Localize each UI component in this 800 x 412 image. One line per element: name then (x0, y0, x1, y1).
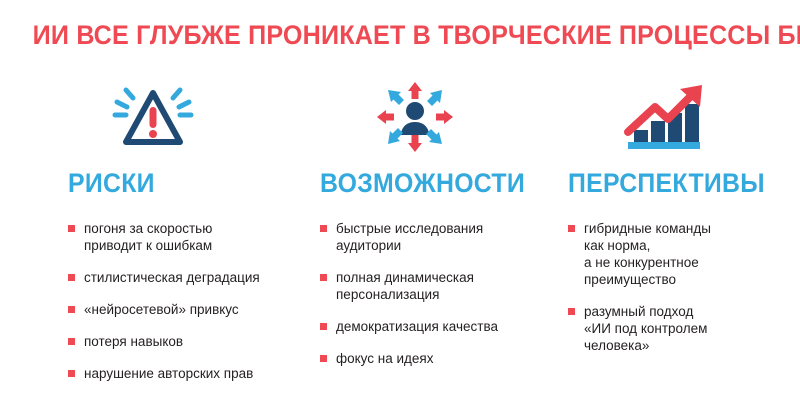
page-title: ИИ ВСЕ ГЛУБЖЕ ПРОНИКАЕТ В ТВОРЧЕСКИЕ ПРО… (33, 20, 800, 50)
icon-wrap-perspectives (560, 78, 796, 158)
list-item-text: «нейросетевой» привкус (84, 301, 306, 318)
person-arrows-icon (374, 80, 456, 156)
bullet-square-icon (68, 370, 75, 377)
list-item-text: потеря навыков (84, 333, 306, 350)
column-heading-risks: РИСКИ (68, 168, 287, 198)
list-item-text: нарушение авторских прав (84, 365, 306, 382)
list-item-text: разумный подход «ИИ под контролем челове… (584, 303, 796, 354)
bullet-square-icon (568, 225, 575, 232)
bullet-square-icon (320, 323, 327, 330)
column-heading-perspectives: ПЕРСПЕКТИВЫ (568, 168, 778, 198)
list-item: быстрые исследования аудитории (320, 220, 560, 254)
list-item: погоня за скоростью приводит к ошибкам (68, 220, 306, 254)
column-heading-opportunities: ВОЗМОЖНОСТИ (320, 168, 541, 198)
columns-container: РИСКИ погоня за скоростью приводит к оши… (0, 78, 800, 408)
bullet-square-icon (68, 274, 75, 281)
bullet-list-risks: погоня за скоростью приводит к ошибкам с… (68, 220, 306, 382)
warning-triangle-icon (110, 80, 196, 156)
list-item-text: быстрые исследования аудитории (336, 220, 560, 254)
list-item: полная динамическая персонализация (320, 269, 560, 303)
list-item: стилистическая деградация (68, 269, 306, 286)
bullet-square-icon (320, 355, 327, 362)
list-item-text: полная динамическая персонализация (336, 269, 560, 303)
bullet-square-icon (68, 338, 75, 345)
bullet-square-icon (68, 225, 75, 232)
list-item: фокус на идеях (320, 350, 560, 367)
list-item-text: фокус на идеях (336, 350, 560, 367)
list-item: нарушение авторских прав (68, 365, 306, 382)
list-item-text: погоня за скоростью приводит к ошибкам (84, 220, 306, 254)
list-item-text: демократизация качества (336, 318, 560, 335)
bullet-square-icon (320, 274, 327, 281)
bullet-square-icon (320, 225, 327, 232)
growth-bar-chart-icon (618, 80, 710, 156)
bullet-list-opportunities: быстрые исследования аудитории полная ди… (320, 220, 560, 367)
list-item: гибридные команды как норма, а не конкур… (568, 220, 796, 288)
icon-wrap-opportunities (312, 78, 560, 158)
column-risks: РИСКИ погоня за скоростью приводит к оши… (58, 78, 306, 382)
list-item: потеря навыков (68, 333, 306, 350)
column-opportunities: ВОЗМОЖНОСТИ быстрые исследования аудитор… (312, 78, 560, 367)
icon-wrap-risks (58, 78, 306, 158)
title-bar: ИИ ВСЕ ГЛУБЖЕ ПРОНИКАЕТ В ТВОРЧЕСКИЕ ПРО… (0, 20, 800, 50)
list-item-text: стилистическая деградация (84, 269, 306, 286)
column-perspectives: ПЕРСПЕКТИВЫ гибридные команды как норма,… (560, 78, 796, 354)
list-item: демократизация качества (320, 318, 560, 335)
list-item-text: гибридные команды как норма, а не конкур… (584, 220, 796, 288)
infographic-canvas: ИИ ВСЕ ГЛУБЖЕ ПРОНИКАЕТ В ТВОРЧЕСКИЕ ПРО… (0, 0, 800, 412)
list-item: разумный подход «ИИ под контролем челове… (568, 303, 796, 354)
list-item: «нейросетевой» привкус (68, 301, 306, 318)
bullet-list-perspectives: гибридные команды как норма, а не конкур… (568, 220, 796, 354)
bullet-square-icon (568, 308, 575, 315)
bullet-square-icon (68, 306, 75, 313)
